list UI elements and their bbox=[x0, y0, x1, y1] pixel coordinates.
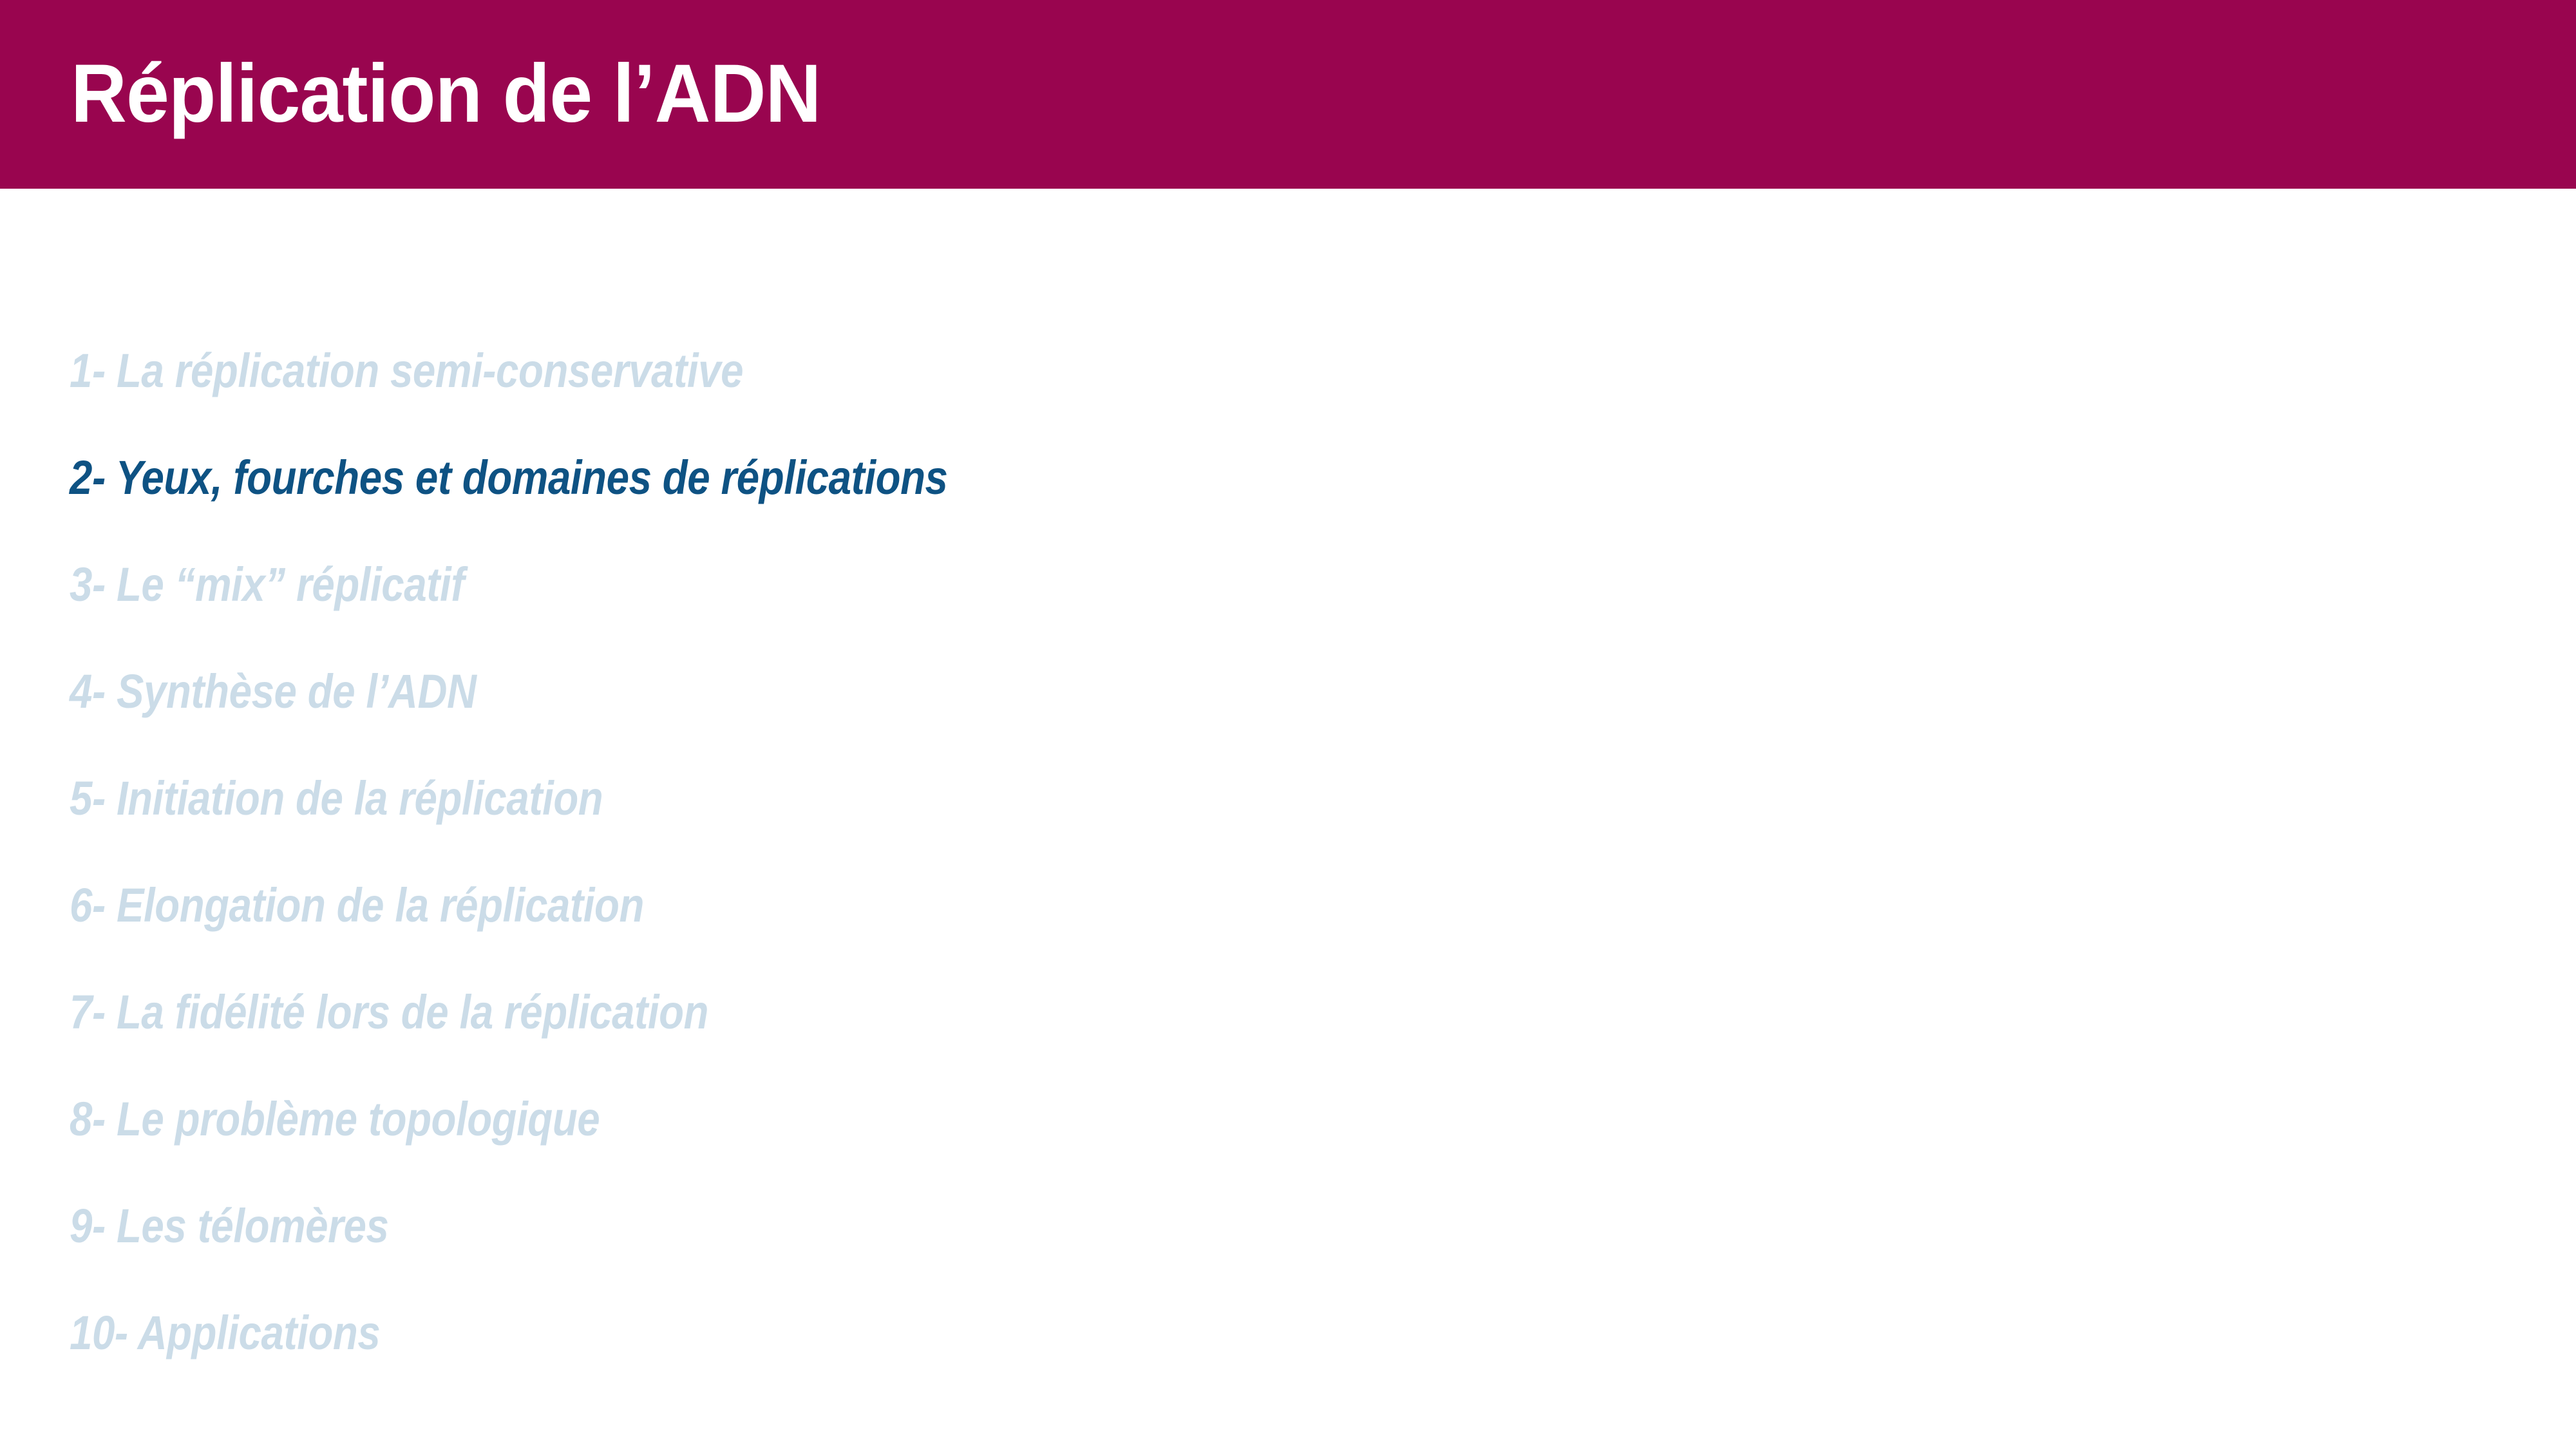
agenda-item-2[interactable]: 2- Yeux, fourches et domaines de réplica… bbox=[0, 424, 2576, 531]
agenda-item-label: 5- Initiation de la réplication bbox=[70, 773, 603, 824]
agenda-item-3[interactable]: 3- Le “mix” réplicatif bbox=[0, 531, 2576, 638]
agenda-item-label: 8- Le problème topologique bbox=[70, 1094, 600, 1145]
agenda-item-label: 9- Les télomères bbox=[70, 1200, 388, 1252]
slide: Réplication de l’ADN 1- La réplication s… bbox=[0, 0, 2576, 1449]
agenda-item-4[interactable]: 4- Synthèse de l’ADN bbox=[0, 638, 2576, 745]
agenda-item-label: 4- Synthèse de l’ADN bbox=[70, 666, 477, 717]
page-title: Réplication de l’ADN bbox=[71, 46, 820, 142]
agenda-item-10[interactable]: 10- Applications bbox=[0, 1280, 2576, 1387]
agenda-item-label: 6- Elongation de la réplication bbox=[70, 880, 644, 931]
slide-header-band: Réplication de l’ADN bbox=[0, 0, 2576, 189]
agenda-item-label: 7- La fidélité lors de la réplication bbox=[70, 987, 708, 1038]
agenda-list: 1- La réplication semi-conservative 2- Y… bbox=[0, 317, 2576, 1387]
agenda-item-7[interactable]: 7- La fidélité lors de la réplication bbox=[0, 959, 2576, 1066]
agenda-item-5[interactable]: 5- Initiation de la réplication bbox=[0, 745, 2576, 852]
agenda-item-label: 2- Yeux, fourches et domaines de réplica… bbox=[70, 452, 947, 504]
agenda-item-8[interactable]: 8- Le problème topologique bbox=[0, 1066, 2576, 1173]
agenda-item-6[interactable]: 6- Elongation de la réplication bbox=[0, 852, 2576, 959]
agenda-item-label: 3- Le “mix” réplicatif bbox=[70, 559, 464, 611]
agenda-item-1[interactable]: 1- La réplication semi-conservative bbox=[0, 317, 2576, 424]
agenda-item-9[interactable]: 9- Les télomères bbox=[0, 1173, 2576, 1280]
agenda-item-label: 10- Applications bbox=[70, 1307, 380, 1359]
agenda-item-label: 1- La réplication semi-conservative bbox=[70, 345, 743, 397]
